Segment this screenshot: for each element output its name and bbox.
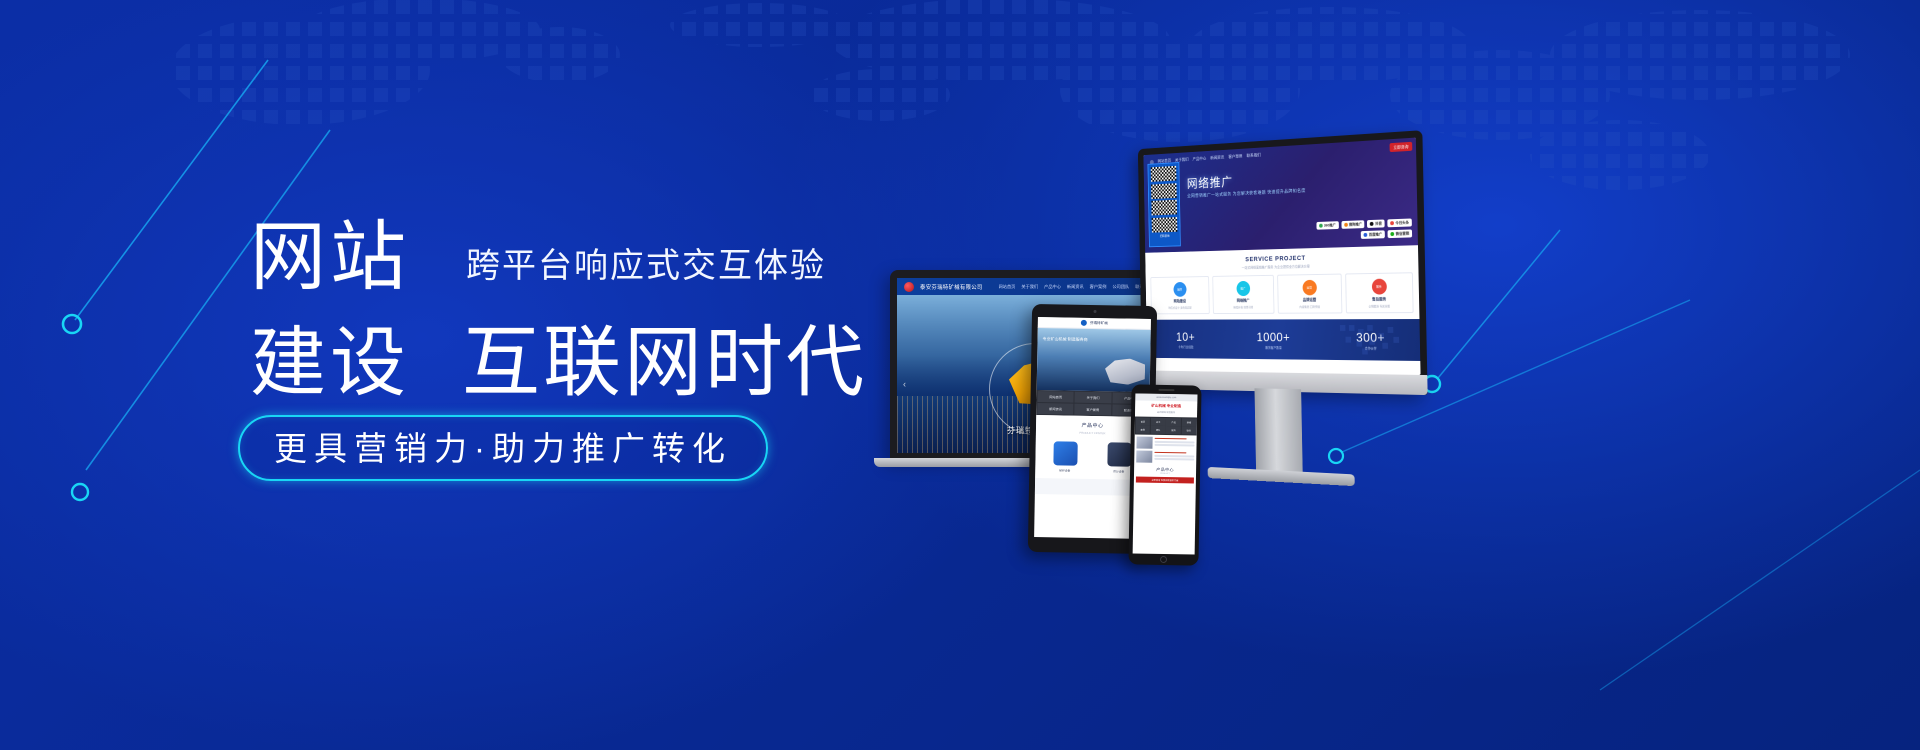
monitor-brand-chip-row: 360推广 搜狗推广 抖音 bbox=[1302, 218, 1412, 240]
laptop-menu-item: 客户案例 bbox=[1090, 284, 1107, 290]
phone-section-subtitle: PRODUCT bbox=[1136, 472, 1194, 475]
qr-code-icon bbox=[1151, 166, 1177, 182]
brand-dot-icon bbox=[1390, 221, 1394, 225]
laptop-site-logo-icon bbox=[904, 282, 914, 292]
headline-row-2: 建设 互联网时代 bbox=[250, 317, 890, 413]
monitor-screen: 网站首页 关于我们 产品中心 新闻资讯 客户案例 联系我们 立即咨询 网络推广 … bbox=[1143, 138, 1420, 375]
phone-cta-bar: 立即咨询 免费获取报价方案 bbox=[1136, 476, 1194, 483]
tablet-site-brand: 芬瑞特矿械 bbox=[1090, 320, 1108, 325]
service-card-bubble-icon: 品牌 bbox=[1173, 282, 1186, 297]
phone-item-lines bbox=[1154, 438, 1194, 448]
laptop-menu-item: 新闻资讯 bbox=[1067, 284, 1084, 290]
service-card: 运营 品牌运营 内容策划 口碑传播 bbox=[1277, 274, 1342, 314]
brand-chip: 今日头条 bbox=[1387, 218, 1411, 227]
phone-banner-title: 矿山机械 专业制造 bbox=[1137, 404, 1195, 410]
tagline-text: 更具营销力·助力推广转化 bbox=[274, 432, 732, 465]
laptop-menu-item: 公司团队 bbox=[1112, 284, 1129, 290]
service-card-desc: 精准获客 效果可视 bbox=[1215, 305, 1271, 309]
tablet-tab-item: 网站首页 bbox=[1037, 391, 1074, 403]
monitor-base bbox=[1208, 467, 1355, 486]
brand-chip: 360推广 bbox=[1316, 221, 1338, 230]
phone-menu-item: 服务 bbox=[1166, 426, 1181, 434]
phone-bezel: www.example.com 矿山机械 专业制造 品质保障 诚信服务 首页 关… bbox=[1128, 384, 1201, 565]
service-card-title: 品牌运营 bbox=[1280, 298, 1339, 303]
tablet-tab-item: 关于我们 bbox=[1075, 392, 1112, 404]
stats-dot-decoration bbox=[1338, 323, 1403, 357]
device-mockup-cluster: 泰安芬瑞特矿械有限公司 网站首页 关于我们 产品中心 新闻资讯 客户案例 公司团… bbox=[880, 110, 1920, 630]
brand-chip-label: 抖音 bbox=[1375, 221, 1382, 226]
brand-dot-icon bbox=[1370, 222, 1374, 226]
phone-home-button-icon bbox=[1160, 555, 1167, 562]
stat-number: 1000+ bbox=[1256, 329, 1290, 343]
brand-chip-label: 360推广 bbox=[1324, 223, 1336, 228]
qr-strip-label: 扫码咨询 bbox=[1152, 234, 1177, 239]
laptop-menu-item: 关于我们 bbox=[1021, 284, 1038, 290]
phone-screen: www.example.com 矿山机械 专业制造 品质保障 诚信服务 首页 关… bbox=[1133, 393, 1198, 554]
brand-dot-icon bbox=[1390, 232, 1394, 236]
tablet-product-grid: 破碎设备 筛分设备 bbox=[1040, 441, 1144, 474]
monitor-stand bbox=[1255, 388, 1303, 477]
brand-chip-label: 今日头条 bbox=[1395, 220, 1409, 225]
brand-chip-label: 搜狗推广 bbox=[1349, 222, 1362, 227]
headline-primary-line2: 建设 bbox=[250, 319, 410, 409]
service-card-bubble-icon: 服务 bbox=[1371, 279, 1386, 295]
tablet-site-logo-icon bbox=[1081, 320, 1087, 326]
phone-menu-item: 团队 bbox=[1151, 426, 1166, 434]
product-thumb-icon bbox=[1107, 442, 1131, 466]
service-card-desc: 内容策划 口碑传播 bbox=[1280, 305, 1339, 309]
phone-list-item bbox=[1136, 436, 1194, 449]
website-promo-banner: 网站 跨平台响应式交互体验 建设 互联网时代 更具营销力·助力推广转化 泰安芬瑞… bbox=[0, 0, 1920, 750]
stat-label: 服务客户数量 bbox=[1257, 344, 1291, 349]
phone-menu-item: 案例 bbox=[1135, 425, 1150, 433]
service-card-title: 售后服务 bbox=[1348, 297, 1410, 303]
brand-dot-icon bbox=[1319, 224, 1323, 228]
monitor-service-section: SERVICE PROJECT 一站式网络营销推广服务 为企业提供全方位解决方案… bbox=[1145, 245, 1419, 320]
stat-item: 10+ 十年行业经验 bbox=[1176, 329, 1195, 348]
stat-number: 10+ bbox=[1176, 329, 1195, 343]
monitor-qr-strip: 扫码咨询 bbox=[1148, 162, 1181, 247]
phone-menu-item: 关于 bbox=[1151, 417, 1166, 425]
phone-thumb-icon bbox=[1136, 436, 1152, 448]
service-card-desc: 响应式设计 多终端适配 bbox=[1153, 306, 1207, 310]
service-card: 推广 网络推广 精准获客 效果可视 bbox=[1212, 275, 1274, 314]
brand-chip: 抖音 bbox=[1367, 219, 1384, 227]
carousel-prev-arrow-icon: ‹ bbox=[903, 379, 906, 389]
tablet-section-subtitle: PRODUCT CENTER bbox=[1041, 430, 1144, 436]
tablet-tab-item: 客户案例 bbox=[1075, 404, 1112, 416]
qr-code-icon bbox=[1152, 217, 1178, 233]
stat-item: 1000+ 服务客户数量 bbox=[1256, 329, 1290, 349]
brand-dot-icon bbox=[1344, 223, 1348, 227]
monitor-site-topbar: 网站首页 关于我们 产品中心 新闻资讯 客户案例 联系我们 bbox=[1143, 138, 1416, 170]
phone-article-list bbox=[1134, 434, 1197, 465]
stat-label: 十年行业经验 bbox=[1176, 344, 1195, 349]
monitor-hero-title: 网络推广 bbox=[1187, 172, 1233, 192]
phone-speaker-icon bbox=[1158, 389, 1174, 391]
phone-menu-item: 联系 bbox=[1181, 426, 1196, 434]
monitor-menu-item: 产品中心 bbox=[1193, 156, 1207, 162]
qr-code-icon bbox=[1151, 183, 1177, 199]
brand-chip-label: 微信营销 bbox=[1396, 231, 1410, 236]
headline-primary-line1: 网站 bbox=[250, 215, 410, 301]
service-card-bubble-icon: 运营 bbox=[1302, 280, 1316, 296]
monitor-bezel: 网站首页 关于我们 产品中心 新闻资讯 客户案例 联系我们 立即咨询 网络推广 … bbox=[1138, 130, 1428, 395]
phone-menu-item: 新闻 bbox=[1181, 418, 1196, 426]
phone-site-banner: 矿山机械 专业制造 品质保障 诚信服务 bbox=[1135, 400, 1197, 417]
tablet-section-title: 产品中心 bbox=[1041, 421, 1144, 430]
monitor-menu-item: 联系我们 bbox=[1247, 152, 1261, 159]
service-card-title: 网站建设 bbox=[1153, 299, 1207, 304]
monitor-site-hero: 网站首页 关于我们 产品中心 新闻资讯 客户案例 联系我们 立即咨询 网络推广 … bbox=[1143, 138, 1418, 253]
service-card: 品牌 网站建设 响应式设计 多终端适配 bbox=[1150, 276, 1209, 314]
brand-dot-icon bbox=[1364, 233, 1368, 237]
phone-item-lines bbox=[1154, 452, 1194, 462]
service-card-bubble-icon: 推广 bbox=[1236, 281, 1250, 296]
tablet-site-hero: 专业矿山机械 制造服务商 bbox=[1037, 328, 1151, 392]
brand-chip-label: 百度推广 bbox=[1369, 232, 1382, 237]
phone-thumb-icon bbox=[1136, 450, 1152, 462]
phone-banner-subtitle: 品质保障 诚信服务 bbox=[1137, 410, 1195, 415]
monitor-stats-strip: 10+ 十年行业经验 1000+ 服务客户数量 300+ 合作伙伴 bbox=[1146, 319, 1420, 361]
tablet-machine-illustration bbox=[1105, 358, 1145, 385]
laptop-site-navbar: 泰安芬瑞特矿械有限公司 网站首页 关于我们 产品中心 新闻资讯 客户案例 公司团… bbox=[897, 278, 1173, 295]
laptop-site-menu: 网站首页 关于我们 产品中心 新闻资讯 客户案例 公司团队 联系我们 bbox=[999, 284, 1152, 290]
tablet-product-label: 破碎设备 bbox=[1040, 468, 1089, 473]
monitor-cta-badge: 立即咨询 bbox=[1390, 142, 1413, 152]
tablet-hero-caption: 专业矿山机械 制造服务商 bbox=[1043, 336, 1088, 343]
laptop-menu-item: 产品中心 bbox=[1044, 284, 1061, 290]
phone-site-menu: 首页 关于 产品 新闻 案例 团队 服务 联系 bbox=[1135, 416, 1197, 435]
tablet-tab-item: 新闻资讯 bbox=[1037, 403, 1074, 415]
banner-subtitle: 跨平台响应式交互体验 bbox=[466, 243, 826, 289]
headline-accent: 互联网时代 bbox=[462, 317, 867, 407]
phone-menu-item: 首页 bbox=[1135, 417, 1150, 425]
service-card-title: 网络推广 bbox=[1215, 299, 1271, 304]
tablet-camera-icon bbox=[1093, 310, 1096, 313]
phone-list-item bbox=[1136, 450, 1194, 463]
qr-code-icon bbox=[1151, 200, 1177, 216]
phone-section-heading: 产品中心 PRODUCT bbox=[1136, 466, 1194, 475]
desktop-monitor-mockup: 网站首页 关于我们 产品中心 新闻资讯 客户案例 联系我们 立即咨询 网络推广 … bbox=[1138, 130, 1428, 395]
product-thumb-icon bbox=[1053, 441, 1077, 465]
monitor-menu-item: 新闻资讯 bbox=[1210, 155, 1224, 161]
service-card: 服务 售后服务 全程跟踪 专属客服 bbox=[1345, 272, 1413, 313]
headline-row-1: 网站 跨平台响应式交互体验 bbox=[250, 215, 890, 307]
tablet-product-item: 破碎设备 bbox=[1040, 441, 1090, 473]
service-card-desc: 全程跟踪 专属客服 bbox=[1349, 304, 1411, 308]
laptop-menu-item: 网站首页 bbox=[999, 284, 1016, 290]
brand-chip: 微信营销 bbox=[1388, 229, 1412, 238]
service-card-list: 品牌 网站建设 响应式设计 多终端适配 推广 网络推广 精准获客 效果可视 运营 bbox=[1150, 272, 1413, 314]
phone-menu-item: 产品 bbox=[1166, 418, 1181, 426]
phone-mockup: www.example.com 矿山机械 专业制造 品质保障 诚信服务 首页 关… bbox=[1128, 384, 1201, 565]
laptop-site-brand: 泰安芬瑞特矿械有限公司 bbox=[920, 283, 983, 291]
brand-chip: 搜狗推广 bbox=[1341, 220, 1365, 229]
tagline-pill: 更具营销力·助力推广转化 bbox=[238, 415, 768, 481]
brand-chip: 百度推广 bbox=[1361, 230, 1385, 239]
headline-block: 网站 跨平台响应式交互体验 建设 互联网时代 bbox=[250, 215, 890, 413]
monitor-menu-item: 客户案例 bbox=[1228, 153, 1242, 159]
